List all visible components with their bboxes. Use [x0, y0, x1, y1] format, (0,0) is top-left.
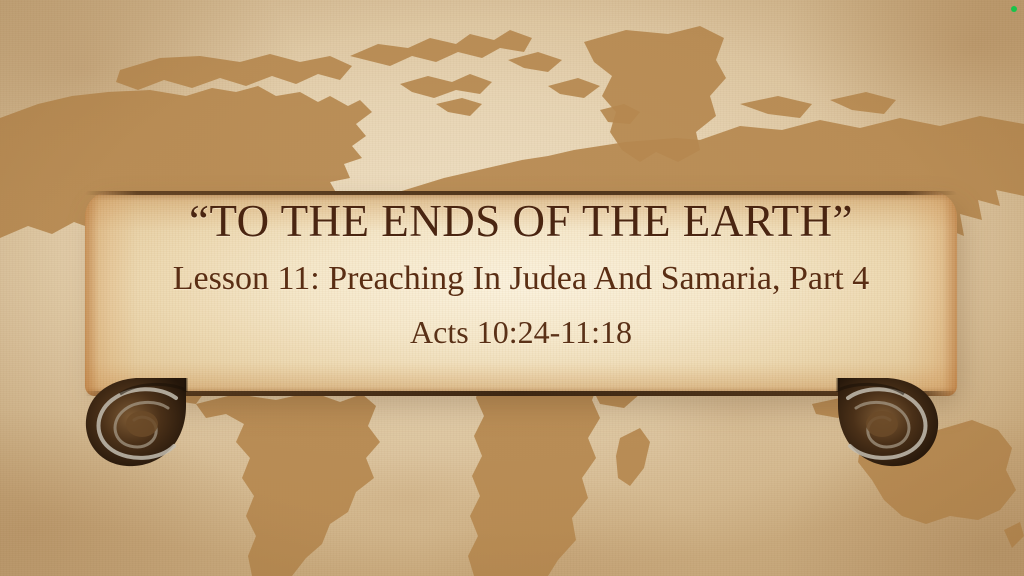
slide-title: “TO THE ENDS OF THE EARTH”: [189, 199, 853, 244]
corner-speck-artifact: [1011, 6, 1017, 12]
scroll-banner: “TO THE ENDS OF THE EARTH” Lesson 11: Pr…: [0, 0, 1024, 576]
roll-core-right: [866, 411, 898, 437]
slide-subtitle: Lesson 11: Preaching In Judea And Samari…: [173, 262, 870, 296]
roll-core-left: [126, 411, 158, 437]
presentation-slide: “TO THE ENDS OF THE EARTH” Lesson 11: Pr…: [0, 0, 1024, 576]
scroll-text-block: “TO THE ENDS OF THE EARTH” Lesson 11: Pr…: [85, 191, 957, 396]
scripture-reference: Acts 10:24-11:18: [410, 316, 632, 348]
